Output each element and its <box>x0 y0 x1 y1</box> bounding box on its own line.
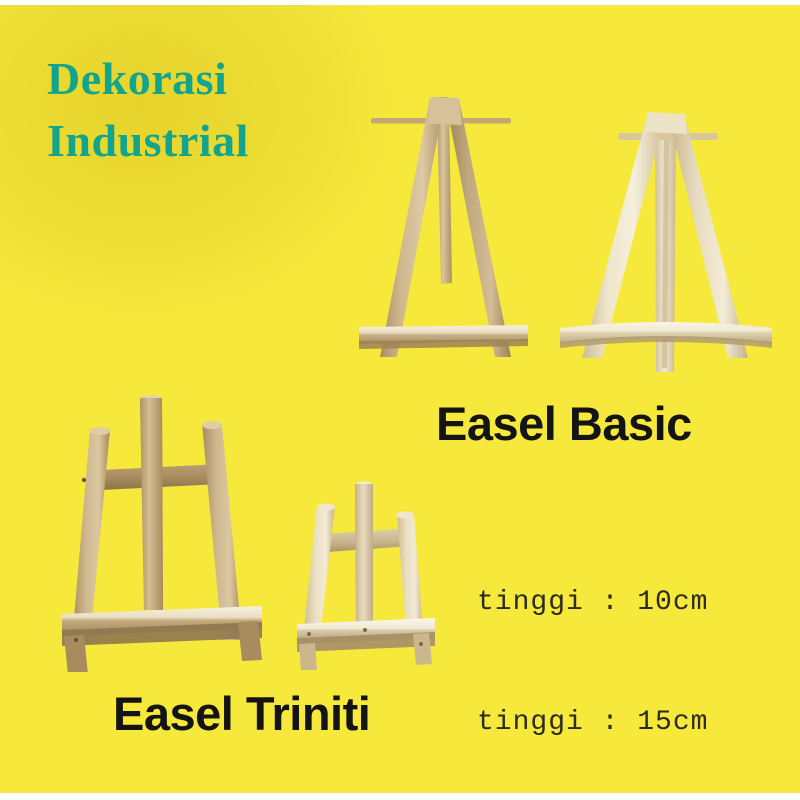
product-poster: Dekorasi Industrial Easel Basic Easel Tr… <box>0 0 800 800</box>
dimension-list: tinggi : 10cm tinggi : 15cm tinggi : 20c… <box>477 503 708 800</box>
top-edge-strip <box>0 0 800 5</box>
brand-title: Dekorasi Industrial <box>47 48 249 171</box>
dimension-row: tinggi : 15cm <box>477 703 708 743</box>
easel-basic-tripod-pale-wood <box>552 100 780 385</box>
easel-basic-dark-svg <box>345 85 540 375</box>
easel-triniti-small <box>293 478 448 670</box>
easel-triniti-large <box>62 392 277 672</box>
product-label-easel-triniti: Easel Triniti <box>113 686 370 741</box>
bottom-edge-strip <box>0 793 800 800</box>
brand-line-1: Dekorasi <box>47 48 249 110</box>
easel-basic-tripod-dark-wood <box>345 85 540 375</box>
brand-line-2: Industrial <box>47 110 249 172</box>
easel-triniti-small-svg <box>293 478 448 670</box>
product-label-easel-basic: Easel Basic <box>436 396 692 451</box>
dimension-row: tinggi : 10cm <box>477 583 708 623</box>
easel-triniti-large-svg <box>62 392 277 672</box>
easel-basic-pale-svg <box>552 100 780 385</box>
